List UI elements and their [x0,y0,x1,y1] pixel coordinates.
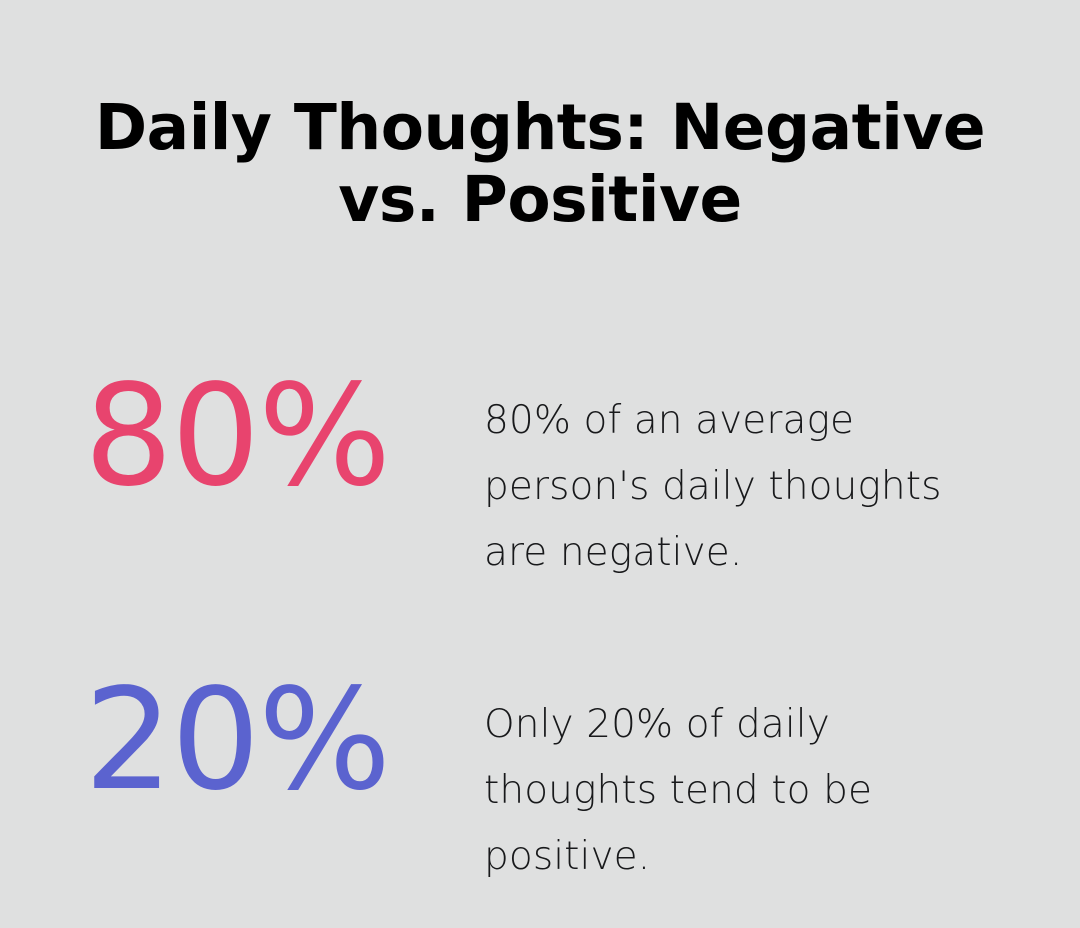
stat-description-negative: 80% of an average person's daily thought… [484,366,984,586]
stat-row-negative: 80% 80% of an average person's daily tho… [0,366,1080,586]
stat-figure-negative: 80% [84,366,484,509]
page-title-line-1: Daily Thoughts: Negative [95,91,985,164]
page-title: Daily Thoughts: Negativevs. Positive [70,92,1010,237]
infographic-poster: Daily Thoughts: Negativevs. Positive 80%… [0,0,1080,928]
stat-description-positive: Only 20% of daily thoughts tend to be po… [484,670,984,890]
title-block: Daily Thoughts: Negativevs. Positive [70,92,1010,237]
stat-row-positive: 20% Only 20% of daily thoughts tend to b… [0,670,1080,890]
stats-list: 80% 80% of an average person's daily tho… [0,366,1080,890]
stat-figure-positive: 20% [84,670,484,813]
page-title-line-2: vs. Positive [338,163,742,236]
